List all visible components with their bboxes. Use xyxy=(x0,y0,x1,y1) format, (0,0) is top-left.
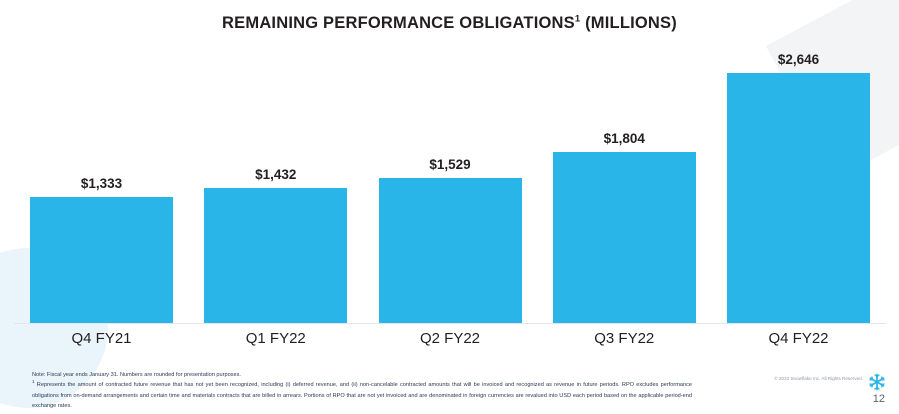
bar-slot: $1,333 xyxy=(30,49,173,323)
bar-value-label: $1,804 xyxy=(604,131,645,146)
x-axis-tick-label: Q4 FY21 xyxy=(30,330,173,347)
x-axis-tick-label: Q4 FY22 xyxy=(727,330,870,347)
footnotes: Note: Fiscal year ends January 31. Numbe… xyxy=(32,370,692,411)
bar-rect[interactable] xyxy=(204,188,347,323)
page-title-main: REMAINING PERFORMANCE OBLIGATIONS xyxy=(222,14,575,32)
footnote-detail-text: Represents the amount of contracted futu… xyxy=(32,382,692,409)
bar-slot: $2,646 xyxy=(727,49,870,323)
x-axis-tick-label: Q1 FY22 xyxy=(204,330,347,347)
chart-plot-area: $1,333$1,432$1,529$1,804$2,646 xyxy=(0,48,899,324)
copyright-text: © 2022 Snowflake Inc. All Rights Reserve… xyxy=(774,376,863,381)
page-title-unit: (MILLIONS) xyxy=(580,14,677,32)
bar-rect[interactable] xyxy=(553,152,696,323)
x-axis-tick-label: Q2 FY22 xyxy=(379,330,522,347)
bar-value-label: $2,646 xyxy=(778,52,819,67)
bar-slot: $1,529 xyxy=(379,49,522,323)
bar-rect[interactable] xyxy=(379,178,522,323)
page-title: REMAINING PERFORMANCE OBLIGATIONS1 (MILL… xyxy=(0,14,899,33)
x-axis-category-labels: Q4 FY21Q1 FY22Q2 FY22Q3 FY22Q4 FY22 xyxy=(30,330,870,347)
bar-value-label: $1,432 xyxy=(255,167,296,182)
bar-rect[interactable] xyxy=(727,73,870,323)
x-axis-tick-label: Q3 FY22 xyxy=(553,330,696,347)
bar-series: $1,333$1,432$1,529$1,804$2,646 xyxy=(30,49,870,323)
footnote-note-line: Note: Fiscal year ends January 31. Numbe… xyxy=(32,370,692,380)
x-axis-line xyxy=(14,323,886,324)
slide-canvas: REMAINING PERFORMANCE OBLIGATIONS1 (MILL… xyxy=(0,0,899,414)
bar-value-label: $1,333 xyxy=(81,176,122,191)
footnote-detail: 1 Represents the amount of contracted fu… xyxy=(32,382,692,409)
bar-value-label: $1,529 xyxy=(429,157,470,172)
page-number: 12 xyxy=(873,393,885,405)
snowflake-logo xyxy=(867,372,887,392)
bar-slot: $1,432 xyxy=(204,49,347,323)
bar-slot: $1,804 xyxy=(553,49,696,323)
bar-rect[interactable] xyxy=(30,197,173,323)
